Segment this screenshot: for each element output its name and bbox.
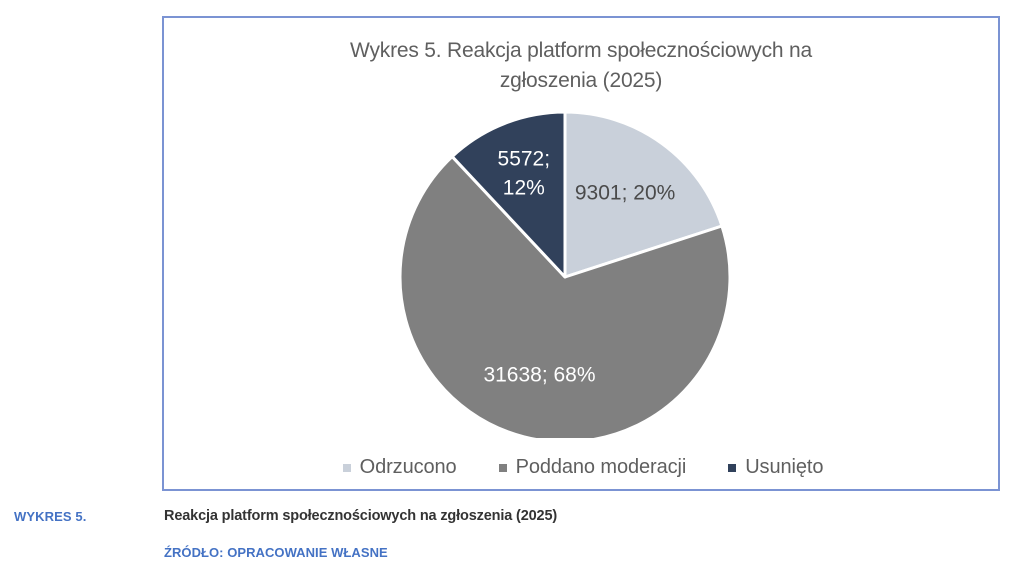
- legend-label: Odrzucono: [360, 456, 457, 479]
- figure-caption: WYKRES 5. Reakcja platform społecznościo…: [0, 503, 1024, 581]
- caption-title: Reakcja platform społecznościowych na zg…: [164, 508, 557, 524]
- legend-item[interactable]: Odrzucono: [343, 456, 457, 479]
- pie-slice-group: [400, 112, 730, 438]
- legend-swatch-icon: [499, 464, 507, 472]
- pie-data-label: 31638; 68%: [483, 364, 595, 387]
- chart-legend: OdrzuconoPoddano moderacjiUsunięto: [164, 456, 1002, 479]
- legend-item[interactable]: Poddano moderacji: [499, 456, 687, 479]
- chart-container: Wykres 5. Reakcja platform społecznościo…: [162, 16, 1000, 491]
- pie-chart-svg: 9301; 20%31638; 68%5572;12%: [164, 18, 1002, 438]
- caption-figure-number: WYKRES 5.: [14, 509, 86, 524]
- legend-swatch-icon: [728, 464, 736, 472]
- legend-label: Poddano moderacji: [516, 456, 687, 479]
- pie-data-label: 9301; 20%: [575, 182, 675, 205]
- legend-label: Usunięto: [745, 456, 823, 479]
- legend-swatch-icon: [343, 464, 351, 472]
- legend-item[interactable]: Usunięto: [728, 456, 823, 479]
- pie-chart-area: 9301; 20%31638; 68%5572;12%: [164, 18, 1002, 438]
- caption-source: ŹRÓDŁO: OPRACOWANIE WŁASNE: [164, 545, 388, 560]
